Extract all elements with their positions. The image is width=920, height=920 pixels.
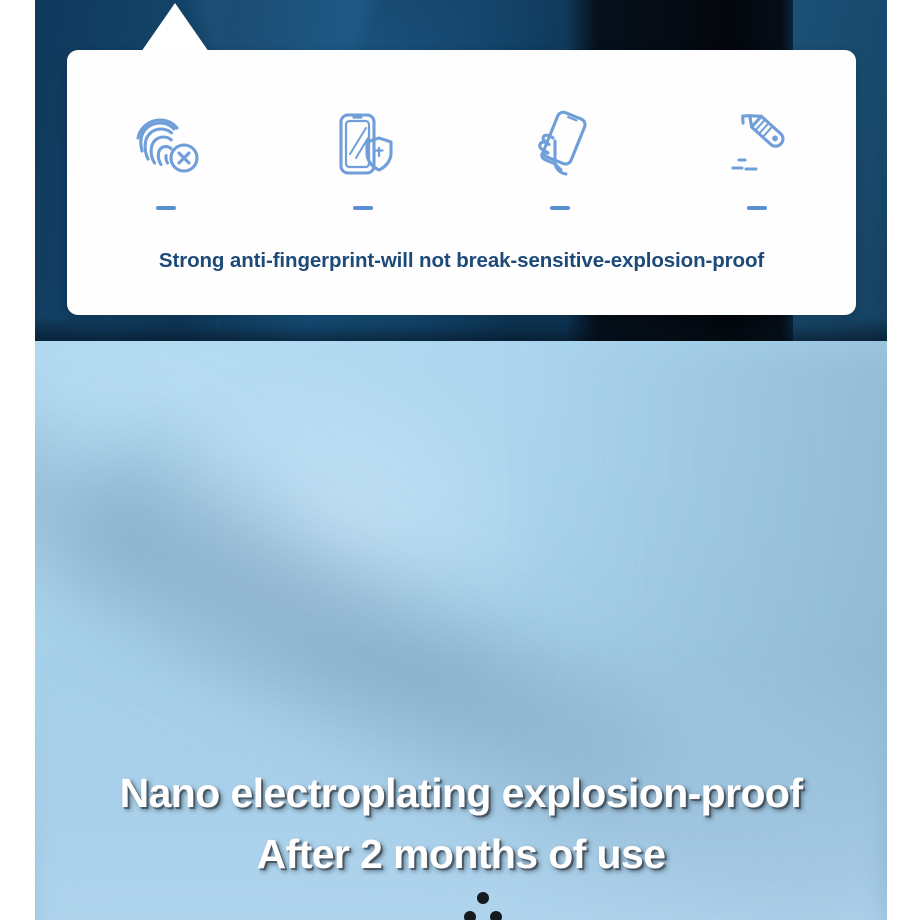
dot-left [464, 911, 476, 920]
product-photo-panel: Nano electroplating explosion-proof Afte… [35, 341, 887, 920]
feature-item-explosion-proof[interactable]: Explosion-proof [659, 106, 856, 229]
photo-headline: Nano electroplating explosion-proof Afte… [35, 763, 887, 885]
feature-ghost-label-3: Sensitive touch [518, 217, 602, 229]
panel-bottom-shadow [35, 317, 887, 341]
feature-dash-4 [747, 206, 767, 210]
feature-item-will-not-break[interactable]: Will not break [264, 106, 461, 229]
feature-dash-2 [353, 206, 373, 210]
feature-icon-row: Anti-fingerprint Will not break [67, 106, 856, 229]
feature-item-anti-fingerprint[interactable]: Anti-fingerprint [67, 106, 264, 229]
feature-ghost-label-2: Will not break [325, 217, 400, 229]
feature-dash-3 [550, 206, 570, 210]
feature-dash-1 [156, 206, 176, 210]
phone-shield-icon [320, 106, 406, 184]
hand-holding-phone-icon [517, 106, 603, 184]
product-detail-page: Anti-fingerprint Will not break [0, 0, 920, 920]
triangle-pointer-icon [141, 3, 209, 52]
dot-right [490, 911, 502, 920]
utility-knife-icon [714, 106, 800, 184]
dot-top [477, 892, 489, 904]
fingerprint-x-icon [123, 106, 209, 184]
feature-ghost-label-1: Anti-fingerprint [124, 217, 207, 229]
feature-card-caption: Strong anti-fingerprint-will not break-s… [67, 249, 856, 273]
feature-item-sensitive-touch[interactable]: Sensitive touch [462, 106, 659, 229]
three-dot-ornament-icon [461, 890, 505, 920]
photo-headline-line-2: After 2 months of use [35, 824, 887, 885]
feature-card: Anti-fingerprint Will not break [67, 50, 856, 315]
photo-headline-line-1: Nano electroplating explosion-proof [35, 763, 887, 824]
feature-ghost-label-4: Explosion-proof [714, 217, 801, 229]
